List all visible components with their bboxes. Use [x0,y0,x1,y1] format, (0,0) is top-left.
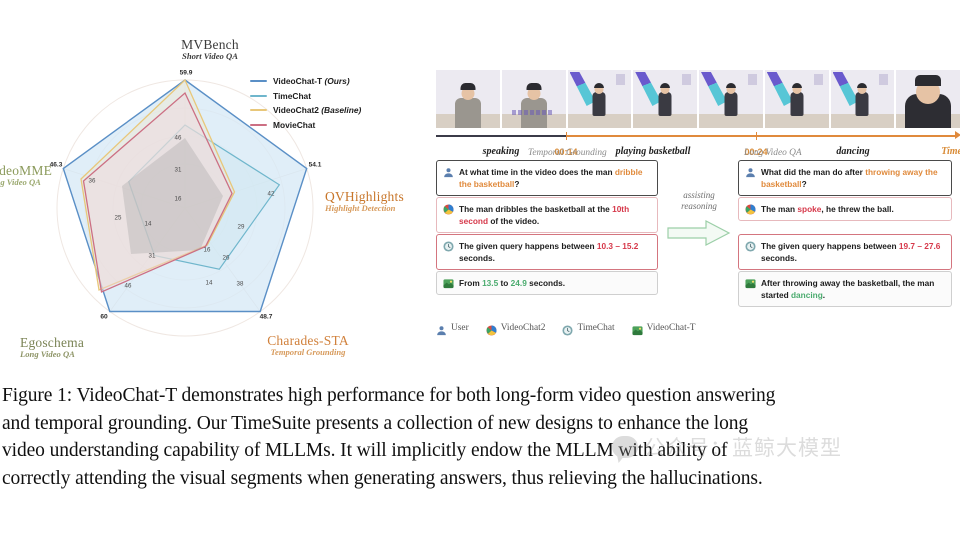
videochat-t-icon [443,278,454,289]
caption-line-4: correctly attending the visual segments … [0,465,960,493]
tick-mvbench-31: 31 [175,167,182,174]
legend-label-videochat2: VideoChat2 (Baseline) [273,105,361,115]
legend-item-moviechat: MovieChat [250,118,361,133]
timechat-icon [562,323,573,334]
qualitative-example-panel: speaking 00:14 playing basketball 00:24 … [428,62,960,358]
axis-label-qvhighlights: QVHighlights Highlight Detection [325,190,425,213]
tick-ego-25: 25 [115,215,122,222]
legend-label-videochat-t: VideoChat-T (Ours) [273,76,350,86]
axis-label-charades-sta: Charades-STA Temporal Grounding [248,334,368,357]
speaker-legend-timechat-label: TimeChat [577,323,614,333]
speaker-legend-videochat-t-label: VideoChat-T [647,323,696,333]
column-heading-temporal-grounding: Temporal Grounding [528,148,607,158]
filmstrip-frame-dancing-2 [831,70,895,128]
timechat-icon [443,241,454,252]
timeline-axis-label: Time [941,146,960,157]
tick-vmme-14: 14 [145,221,152,228]
radar-chart-panel: 59.9 54.1 48.7 60 46.3 46 31 16 42 29 16… [0,18,420,378]
tick-mvbench-46: 46 [175,135,182,142]
tick-charades-14: 14 [206,280,213,287]
videochat2-icon [443,204,454,215]
axis-label-egoschema: Egoschema Long Video QA [20,336,150,359]
legend-swatch-timechat [250,95,267,97]
vertex-label-egoschema: 60 [100,314,107,321]
vertex-label-mvbench: 59.9 [180,70,193,77]
bubble-lvqa-videochat2: The man spoke, he threw the ball. [738,197,952,221]
legend-item-timechat: TimeChat [250,89,361,104]
legend-swatch-moviechat [250,124,267,126]
legend-item-videochat2: VideoChat2 (Baseline) [250,103,361,118]
bubble-lvqa-videochat2-text: The man spoke, he threw the ball. [761,204,894,214]
speaker-legend-timechat: TimeChat [562,323,614,334]
filmstrip-frame-dancing-1 [765,70,829,128]
axis-label-egoschema-sub: Long Video QA [20,350,150,359]
user-icon [443,167,454,178]
axis-label-charades-sta-name: Charades-STA [248,334,368,348]
arrow-glyph-icon [666,218,732,248]
column-heading-long-video-qa: Long Video QA [744,148,802,158]
filmstrip-frame-speaking-1 [436,70,500,128]
filmstrip-frame-basketball-3 [699,70,763,128]
bubble-tg-videochat-t-text: From 13.5 to 24.9 seconds. [459,278,565,288]
legend-item-videochat-t: VideoChat-T (Ours) [250,74,361,89]
speaker-legend-videochat2: VideoChat2 [486,323,546,334]
speaker-legend-user-label: User [451,323,469,333]
axis-label-videomme-sub: Long Video QA [0,178,106,187]
filmstrip-frame-closeup [896,70,960,128]
videochat-t-icon [745,278,756,289]
caption-line-3: video understanding capability of MLLMs.… [0,437,960,465]
video-timeline [436,132,960,141]
legend-label-moviechat: MovieChat [273,120,315,130]
bubble-lvqa-timechat: The given query happens between 19.7 – 2… [738,234,952,270]
assisting-reasoning-arrow: assistingreasoning [666,190,732,250]
bubble-lvqa-user: What did the man do after throwing away … [738,160,952,196]
videochat-t-icon [632,323,643,334]
bubble-tg-user-text: At what time in the video does the man d… [459,167,643,189]
videochat2-icon [745,204,756,215]
axis-label-egoschema-name: Egoschema [20,336,150,350]
legend-swatch-videochat-t [250,80,267,82]
axis-label-mvbench-name: MVBench [150,38,270,52]
axis-label-charades-sta-sub: Temporal Grounding [248,348,368,357]
bubble-tg-timechat-text: The given query happens between 10.3 – 1… [459,241,638,263]
timeline-label-dancing: dancing [836,146,869,157]
caption-line-1: Figure 1: VideoChat-T demonstrates high … [0,382,960,410]
assisting-reasoning-text: assistingreasoning [666,190,732,213]
figure-caption: Figure 1: VideoChat-T demonstrates high … [0,382,960,493]
tick-mvbench-16: 16 [175,196,182,203]
tick-charades-26: 26 [223,255,230,262]
legend-swatch-videochat2 [250,109,267,111]
bubble-tg-videochat2: The man dribbles the basketball at the 1… [436,197,658,233]
axis-label-videomme-name: VideoMME [0,164,106,178]
bubble-tg-user: At what time in the video does the man d… [436,160,658,196]
bubble-tg-videochat2-text: The man dribbles the basketball at the 1… [459,204,629,226]
filmstrip-frame-speaking-2 [502,70,566,128]
speaker-legend-user: User [436,323,469,334]
filmstrip-frame-basketball-2 [633,70,697,128]
tick-qvh-29: 29 [238,224,245,231]
speaker-legend-videochat2-label: VideoChat2 [501,323,546,333]
timeline-label-basketball: playing basketball [616,146,691,157]
timeline-segment-dancing [756,135,956,137]
timechat-icon [745,241,756,252]
bubble-tg-timechat: The given query happens between 10.3 – 1… [436,234,658,270]
timeline-segment-speaking [436,135,566,137]
filmstrip-frame-basketball-1 [568,70,632,128]
vertex-label-qvhighlights: 54.1 [309,162,322,169]
axis-label-videomme: VideoMME Long Video QA [0,164,106,187]
timeline-arrow-icon [955,131,960,139]
axis-label-qvhighlights-sub: Highlight Detection [325,204,425,213]
tick-ego-31: 31 [149,253,156,260]
timeline-label-speaking: speaking [483,146,520,157]
chart-legend: VideoChat-T (Ours) TimeChat VideoChat2 (… [250,74,361,132]
timeline-segment-basketball [566,135,756,137]
axis-label-qvhighlights-name: QVHighlights [325,190,425,204]
videochat2-icon [486,323,497,334]
bubble-lvqa-videochat-t-text: After throwing away the basketball, the … [761,278,934,300]
tick-qvh-16: 16 [204,247,211,254]
bubble-lvqa-timechat-text: The given query happens between 19.7 – 2… [761,241,940,263]
axis-label-mvbench: MVBench Short Video QA [150,38,270,61]
speaker-legend-videochat-t: VideoChat-T [632,323,696,334]
tick-qvh-42: 42 [268,191,275,198]
bubble-lvqa-videochat-t: After throwing away the basketball, the … [738,271,952,307]
user-icon [745,167,756,178]
tick-ego-46: 46 [125,283,132,290]
bubble-tg-videochat-t: From 13.5 to 24.9 seconds. [436,271,658,295]
video-filmstrip [436,70,960,128]
speaker-legend: User VideoChat2 TimeChat VideoChat-T [436,320,696,336]
caption-line-2: and temporal grounding. Our TimeSuite pr… [0,410,960,438]
axis-label-mvbench-sub: Short Video QA [150,52,270,61]
bubble-lvqa-user-text: What did the man do after throwing away … [761,167,938,189]
user-icon [436,323,447,334]
tick-charades-38: 38 [237,281,244,288]
vertex-label-charades: 48.7 [260,314,273,321]
legend-label-timechat: TimeChat [273,91,311,101]
figure-1: 59.9 54.1 48.7 60 46.3 46 31 16 42 29 16… [0,0,960,540]
